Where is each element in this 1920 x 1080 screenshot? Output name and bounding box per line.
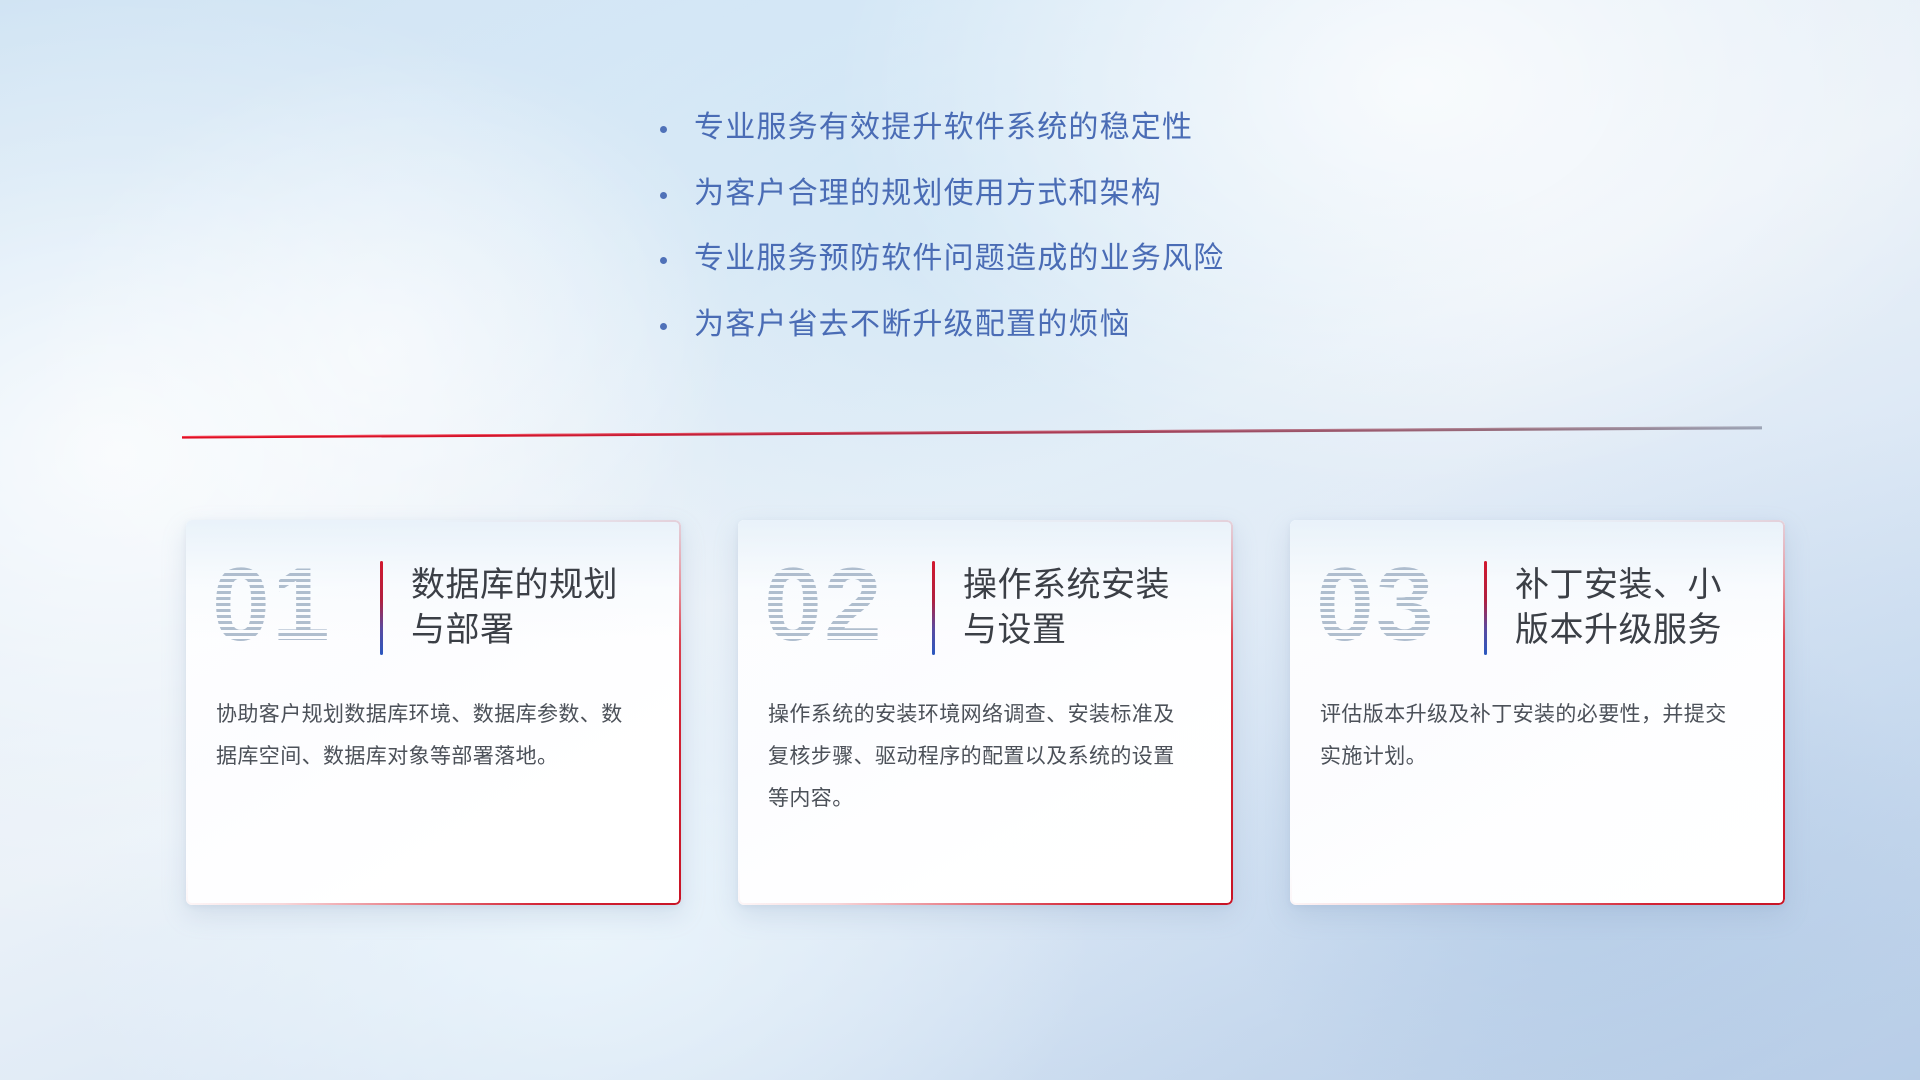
slide-canvas: 专业服务有效提升软件系统的稳定性 为客户合理的规划使用方式和架构 专业服务预防软… (0, 0, 1920, 1080)
bullet-text: 专业服务有效提升软件系统的稳定性 (694, 108, 1193, 149)
card-description: 评估版本升级及补丁安装的必要性，并提交实施计划。 (1290, 670, 1785, 778)
list-item: 专业服务预防软件问题造成的业务风险 (660, 239, 1420, 280)
card-header: 01 数据库的规划与部署 (186, 520, 681, 670)
card-number: 03 (1316, 549, 1484, 667)
service-card[interactable]: 03 补丁安装、小版本升级服务 评估版本升级及补丁安装的必要性，并提交实施计划。 (1290, 520, 1785, 905)
card-divider-rule (1484, 561, 1487, 655)
bullet-text: 为客户合理的规划使用方式和架构 (694, 174, 1162, 215)
list-item: 为客户合理的规划使用方式和架构 (660, 174, 1420, 215)
bullet-text: 专业服务预防软件问题造成的业务风险 (694, 239, 1224, 280)
card-title: 补丁安装、小版本升级服务 (1515, 563, 1755, 653)
service-cards-row: 01 数据库的规划与部署 协助客户规划数据库环境、数据库参数、数据库空间、数据库… (186, 520, 1786, 905)
card-description: 操作系统的安装环境网络调查、安装标准及复核步骤、驱动程序的配置以及系统的设置等内… (738, 670, 1233, 820)
card-number: 01 (212, 549, 380, 667)
bullet-dot-icon (660, 116, 694, 137)
card-number: 02 (764, 549, 932, 667)
bullet-dot-icon (660, 182, 694, 203)
service-card[interactable]: 01 数据库的规划与部署 协助客户规划数据库环境、数据库参数、数据库空间、数据库… (186, 520, 681, 905)
card-description: 协助客户规划数据库环境、数据库参数、数据库空间、数据库对象等部署落地。 (186, 670, 681, 778)
card-title: 数据库的规划与部署 (411, 563, 651, 653)
card-header: 03 补丁安装、小版本升级服务 (1290, 520, 1785, 670)
card-divider-rule (932, 561, 935, 655)
card-header: 02 操作系统安装与设置 (738, 520, 1233, 670)
bullet-dot-icon (660, 247, 694, 268)
service-card[interactable]: 02 操作系统安装与设置 操作系统的安装环境网络调查、安装标准及复核步骤、驱动程… (738, 520, 1233, 905)
benefits-bullet-list: 专业服务有效提升软件系统的稳定性 为客户合理的规划使用方式和架构 专业服务预防软… (660, 108, 1420, 370)
card-divider-rule (380, 561, 383, 655)
bullet-dot-icon (660, 313, 694, 334)
list-item: 专业服务有效提升软件系统的稳定性 (660, 108, 1420, 149)
list-item: 为客户省去不断升级配置的烦恼 (660, 305, 1420, 346)
bullet-text: 为客户省去不断升级配置的烦恼 (694, 305, 1131, 346)
red-wedge-divider (182, 423, 1762, 439)
card-title: 操作系统安装与设置 (963, 563, 1203, 653)
